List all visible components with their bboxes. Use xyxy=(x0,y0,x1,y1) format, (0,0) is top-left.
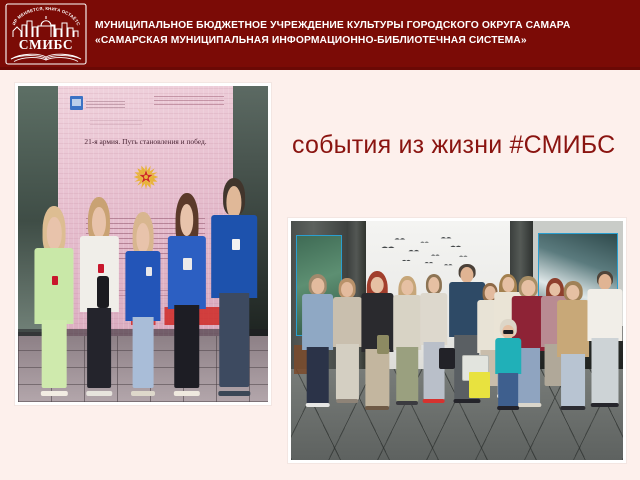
torso xyxy=(211,215,257,298)
list-item xyxy=(361,271,394,410)
face xyxy=(371,277,384,294)
shoes xyxy=(337,399,359,403)
status-badge xyxy=(52,276,58,285)
status-badge xyxy=(146,267,152,276)
shoulder-bag xyxy=(97,276,110,308)
torso xyxy=(496,338,521,374)
legs xyxy=(306,347,329,405)
legs xyxy=(87,308,111,388)
torso xyxy=(587,289,622,341)
shoes xyxy=(87,391,113,396)
banner-top-inscription xyxy=(154,94,224,105)
sunglasses-icon xyxy=(504,330,514,334)
olive-shoulder-bag xyxy=(377,335,389,354)
photo-library-lobby-group xyxy=(288,218,626,463)
status-badge xyxy=(232,239,240,250)
header-bottom-rule xyxy=(0,67,640,70)
photo-exhibition-group-image: 21-я армия. Путь становления и побед. xyxy=(18,86,268,402)
legs xyxy=(133,317,154,388)
list-item xyxy=(586,271,623,407)
torso xyxy=(35,248,74,324)
torso xyxy=(420,293,447,345)
torso xyxy=(333,297,361,347)
slide-header: МИР МЕНЯЕТСЯ, КНИГА ОСТАЁТСЯ С xyxy=(0,0,640,67)
status-badge xyxy=(183,258,192,270)
list-item xyxy=(166,193,209,395)
shoes xyxy=(561,406,586,410)
list-item xyxy=(123,212,163,395)
page-title: события из жизни #СМИБС xyxy=(292,131,615,160)
list-item xyxy=(333,278,363,402)
shoes xyxy=(131,391,155,396)
torso xyxy=(168,236,206,309)
photo-exhibition-group: 21-я армия. Путь становления и побед. xyxy=(15,83,271,405)
face xyxy=(180,204,194,236)
legs xyxy=(499,373,519,408)
shoes xyxy=(498,406,520,410)
legs xyxy=(561,354,585,407)
face xyxy=(598,274,611,290)
list-item xyxy=(495,319,522,410)
list-item xyxy=(419,274,449,403)
shoes xyxy=(365,406,389,410)
status-badge xyxy=(98,264,104,273)
face xyxy=(341,282,353,297)
shoes xyxy=(590,403,618,407)
legs xyxy=(220,293,249,387)
shoes xyxy=(396,401,418,405)
face xyxy=(460,267,473,284)
list-item xyxy=(33,206,76,396)
photo-library-lobby-group-image xyxy=(291,221,623,460)
shoes xyxy=(174,391,200,396)
list-item xyxy=(557,281,590,410)
face xyxy=(522,280,535,296)
shoes xyxy=(219,391,250,396)
svg-text:МИР МЕНЯЕТСЯ, КНИГА ОСТАЁТСЯ: МИР МЕНЯЕТСЯ, КНИГА ОСТАЁТСЯ xyxy=(5,3,81,26)
shoes xyxy=(453,399,480,403)
black-handbag xyxy=(439,348,456,370)
legs xyxy=(174,305,200,388)
torso xyxy=(125,251,160,321)
shoes xyxy=(305,403,330,407)
torso xyxy=(393,295,420,349)
banner-title: 21-я армия. Путь становления и побед. xyxy=(67,137,225,146)
banner-logo-text xyxy=(86,99,125,108)
legs xyxy=(396,347,418,402)
list-item xyxy=(78,197,121,396)
list-item xyxy=(392,276,422,405)
shoes xyxy=(41,391,67,396)
header-title-line2: «САМАРСКАЯ МУНИЦИПАЛЬНАЯ ИНФОРМАЦИОННО-Б… xyxy=(95,34,570,49)
samara-city-emblem-logo xyxy=(70,96,83,110)
legs xyxy=(42,320,67,388)
face xyxy=(92,207,106,239)
smibs-library-logo: МИР МЕНЯЕТСЯ, КНИГА ОСТАЁТСЯ С xyxy=(5,3,87,65)
torso xyxy=(302,294,334,350)
legs xyxy=(366,349,389,407)
yellow-shopping-bag xyxy=(469,372,491,398)
legs xyxy=(336,344,358,400)
header-titles: МУНИЦИПАЛЬНОЕ БЮДЖЕТНОЕ УЧРЕЖДЕНИЕ КУЛЬТ… xyxy=(95,19,570,49)
list-item xyxy=(211,178,259,396)
logo-acronym: СМИБС xyxy=(19,37,74,52)
banner-faint-text xyxy=(90,119,143,125)
shoes xyxy=(422,399,445,403)
order-of-patriotic-war-star xyxy=(133,164,159,195)
legs xyxy=(591,338,618,405)
list-item xyxy=(301,274,334,408)
header-title-line1: МУНИЦИПАЛЬНОЕ БЮДЖЕТНОЕ УЧРЕЖДЕНИЕ КУЛЬТ… xyxy=(95,19,570,34)
torso xyxy=(557,300,589,357)
